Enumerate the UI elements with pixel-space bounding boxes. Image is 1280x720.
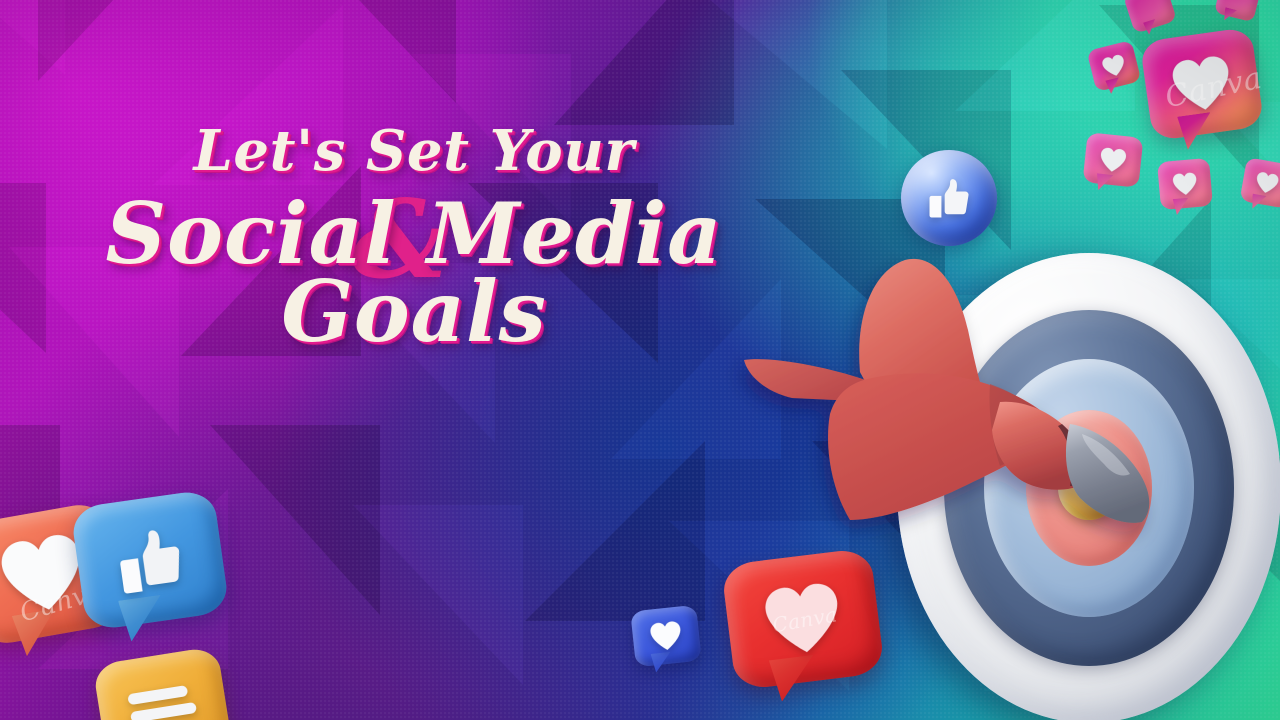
heart-bubble-pink-lg: Canva [1140, 27, 1265, 142]
heart-icon [1167, 52, 1236, 116]
target-bullseye [1058, 456, 1120, 520]
heart-bubble-royal [630, 605, 701, 668]
thumbs-up-icon [923, 172, 975, 224]
thumbs-up-icon [102, 514, 198, 605]
heart-icon [1171, 171, 1199, 197]
heart-bubble-pink-sm4 [1240, 157, 1280, 209]
like-bubble-blue [70, 489, 230, 632]
facebook-like-sphere [901, 150, 997, 246]
banner-canvas: Let's Set Your Social Media Goals & [0, 0, 1280, 720]
heart-icon [759, 578, 847, 659]
comment-lines-icon [122, 678, 203, 720]
heart-icon [1100, 52, 1129, 79]
heart-bubble-pink-sm3 [1157, 158, 1213, 210]
heart-bubble-red: Canva [721, 547, 885, 690]
heart-icon [648, 619, 685, 652]
heart-icon [1253, 170, 1280, 196]
heart-bubble-pink-sm2 [1083, 132, 1144, 188]
heart-icon [1098, 146, 1129, 175]
dartboard-target [897, 253, 1280, 720]
